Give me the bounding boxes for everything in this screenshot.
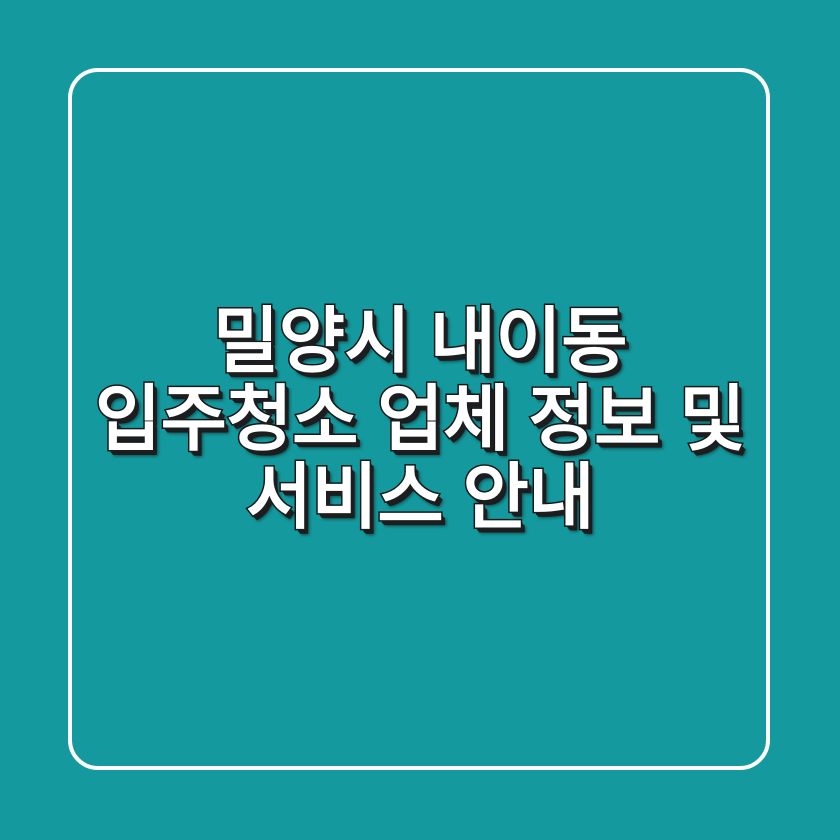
thumbnail-card: 밀양시 내이동 입주청소 업체 정보 및 서비스 안내 <box>0 0 840 840</box>
page-title-line-1: 밀양시 내이동 <box>60 303 780 381</box>
page-title: 밀양시 내이동 입주청소 업체 정보 및 서비스 안내 <box>0 0 840 840</box>
page-title-line-2: 입주청소 업체 정보 및 <box>60 381 780 459</box>
page-title-line-3: 서비스 안내 <box>60 459 780 537</box>
